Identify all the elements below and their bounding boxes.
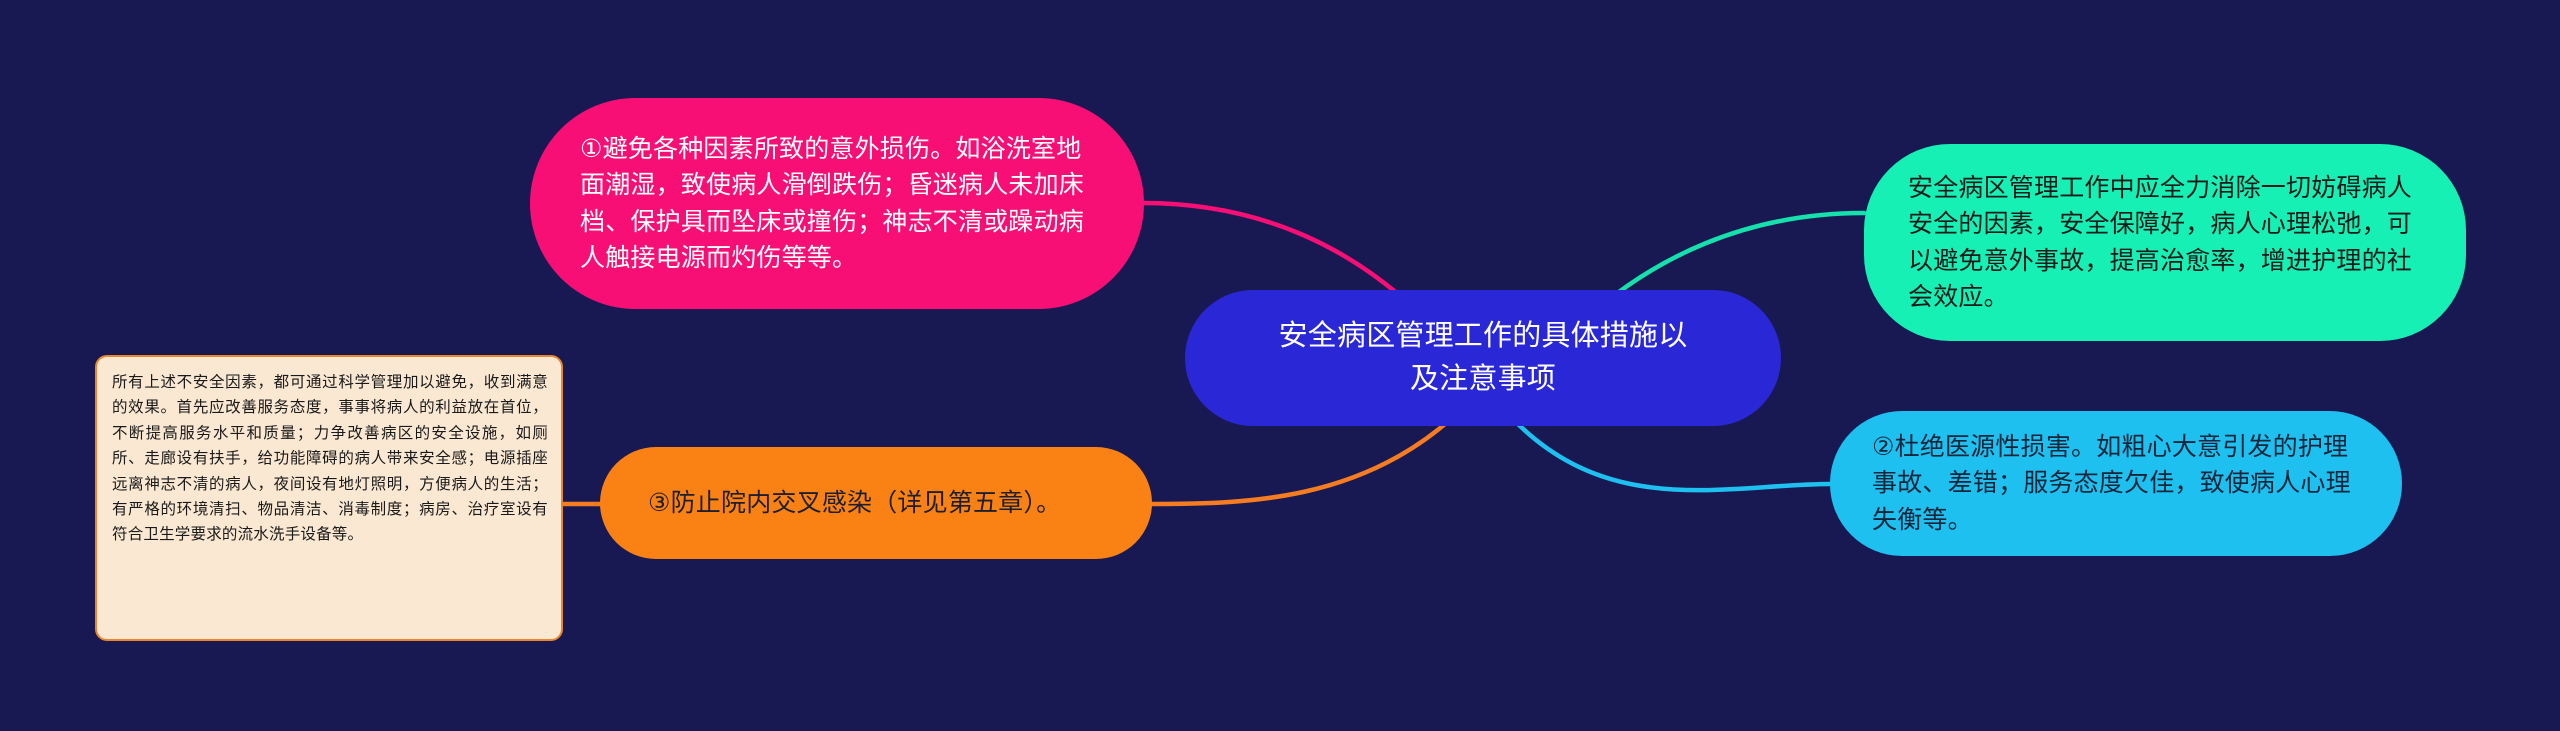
branch-pink-label: ①避免各种因素所致的意外损伤。如浴洗室地面潮湿，致使病人滑倒跌伤；昏迷病人未加床… (530, 131, 1144, 277)
branch-node-green[interactable]: 安全病区管理工作中应全力消除一切妨碍病人安全的因素，安全保障好，病人心理松弛，可… (1864, 144, 2466, 341)
connector-orange (1152, 418, 1452, 504)
branch-node-pink[interactable]: ①避免各种因素所致的意外损伤。如浴洗室地面潮湿，致使病人滑倒跌伤；昏迷病人未加床… (530, 98, 1144, 309)
branch-cyan-label: ②杜绝医源性损害。如粗心大意引发的护理事故、差错；服务态度欠佳，致使病人心理失衡… (1830, 429, 2402, 539)
branch-node-cream[interactable]: 所有上述不安全因素，都可通过科学管理加以避免，收到满意的效果。首先应改善服务态度… (95, 355, 563, 641)
branch-node-orange[interactable]: ③防止院内交叉感染（详见第五章）。 (600, 447, 1152, 559)
branch-node-cyan[interactable]: ②杜绝医源性损害。如粗心大意引发的护理事故、差错；服务态度欠佳，致使病人心理失衡… (1830, 411, 2402, 556)
mindmap-canvas: ①避免各种因素所致的意外损伤。如浴洗室地面潮湿，致使病人滑倒跌伤；昏迷病人未加床… (0, 0, 2560, 731)
central-topic-label: 安全病区管理工作的具体措施以及注意事项 (1268, 315, 1698, 401)
connector-cyan (1512, 418, 1830, 490)
branch-orange-label: ③防止院内交叉感染（详见第五章）。 (600, 485, 1152, 522)
branch-green-label: 安全病区管理工作中应全力消除一切妨碍病人安全的因素，安全保障好，病人心理松弛，可… (1864, 170, 2466, 316)
central-topic-node[interactable]: 安全病区管理工作的具体措施以及注意事项 (1185, 290, 1781, 426)
branch-cream-label: 所有上述不安全因素，都可通过科学管理加以避免，收到满意的效果。首先应改善服务态度… (97, 357, 561, 558)
